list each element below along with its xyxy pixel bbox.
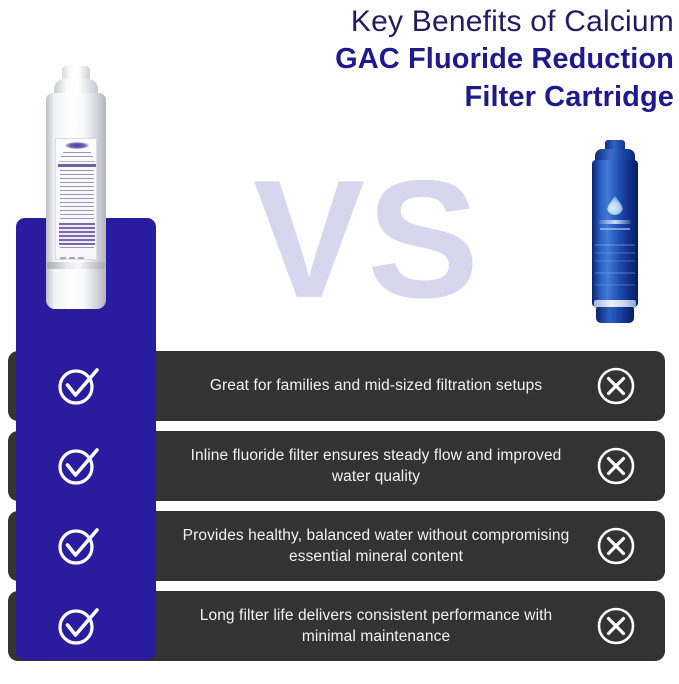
row-label: Provides healthy, balanced water without…: [170, 511, 582, 581]
blue-filter-cartridge-image: [592, 140, 638, 323]
x-circle-icon: [592, 602, 640, 650]
x-circle-icon: [592, 442, 640, 490]
comparison-infographic: Key Benefits of Calcium GAC Fluoride Red…: [0, 0, 679, 684]
blue-cartridge-brand-text: [599, 220, 631, 224]
brand-logo-icon: [65, 142, 89, 149]
x-circle-icon: [592, 362, 640, 410]
page-title: Key Benefits of Calcium GAC Fluoride Red…: [262, 2, 674, 116]
title-line-3: Filter Cartridge: [262, 79, 674, 117]
row-label: Inline fluoride filter ensures steady fl…: [170, 431, 582, 501]
check-circle-icon: [54, 442, 102, 490]
title-line-2: GAC Fluoride Reduction: [262, 41, 674, 79]
x-circle-icon: [592, 522, 640, 570]
check-circle-icon: [54, 362, 102, 410]
cartridge-label: [55, 138, 97, 260]
label-certification-icons: [60, 251, 94, 259]
label-highlight-block: [59, 223, 95, 245]
white-filter-cartridge-image: [46, 66, 106, 309]
cartridge-base-ring: [47, 262, 105, 269]
water-drop-icon: [607, 196, 623, 215]
versus-watermark: VS: [252, 144, 482, 334]
check-circle-icon: [54, 602, 102, 650]
blue-cartridge-subtext: [600, 228, 630, 230]
blue-cartridge-body: [592, 160, 638, 307]
blue-cartridge-foot: [596, 307, 634, 323]
row-label: Long filter life delivers consistent per…: [170, 591, 582, 661]
row-label: Great for families and mid-sized filtrat…: [170, 351, 582, 421]
check-circle-icon: [54, 522, 102, 570]
title-line-1: Key Benefits of Calcium: [262, 2, 674, 41]
